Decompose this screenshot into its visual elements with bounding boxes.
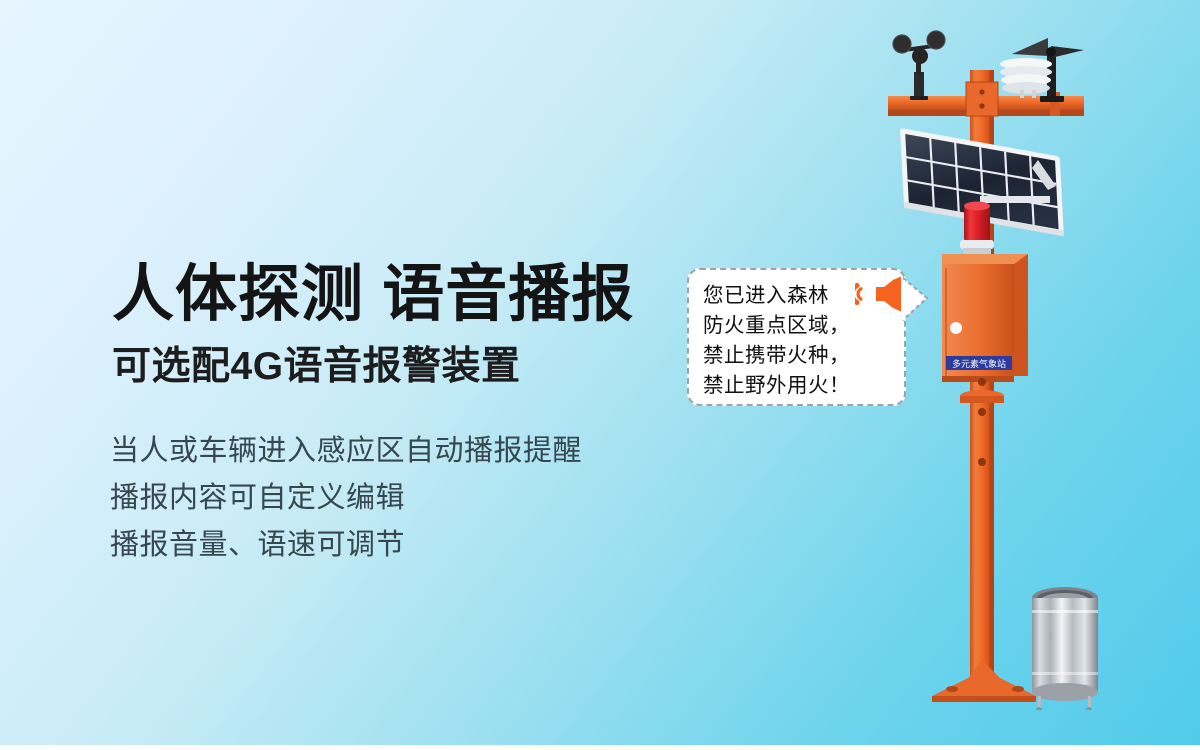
page-title: 人体探测 语音播报	[112, 264, 634, 326]
page-subtitle: 可选配4G语音报警装置	[112, 346, 521, 389]
weather-station-illustration: 多元素气象站	[860, 10, 1200, 710]
bottom-white-strip	[0, 745, 1200, 750]
anemometer-icon	[893, 31, 945, 100]
rain-gauge	[1032, 587, 1098, 710]
callout-line-4: 禁止野外用火！	[703, 371, 850, 401]
cabinet-lock-knob	[950, 322, 962, 334]
feature-item-2: 播报内容可自定义编辑	[110, 475, 582, 522]
control-cabinet: 多元素气象站	[942, 254, 1028, 382]
feature-list: 当人或车辆进入感应区自动播报提醒 播报内容可自定义编辑 播报音量、语速可调节	[110, 428, 582, 569]
alarm-beacon	[960, 202, 994, 255]
feature-item-3: 播报音量、语速可调节	[110, 522, 582, 569]
callout-line-2: 防火重点区域，	[703, 311, 850, 341]
callout-line-1: 您已进入森林	[703, 281, 850, 311]
base-flange	[932, 660, 1036, 702]
callout-text: 您已进入森林 防火重点区域， 禁止携带火种， 禁止野外用火！	[703, 281, 850, 401]
callout-line-3: 禁止携带火种，	[703, 341, 850, 371]
feature-item-1: 当人或车辆进入感应区自动播报提醒	[110, 428, 582, 475]
svg-text:多元素气象站: 多元素气象站	[952, 358, 1006, 369]
radiation-shield-icon	[1000, 58, 1052, 98]
promo-banner: 人体探测 语音播报 可选配4G语音报警装置 当人或车辆进入感应区自动播报提醒 播…	[0, 0, 1200, 745]
